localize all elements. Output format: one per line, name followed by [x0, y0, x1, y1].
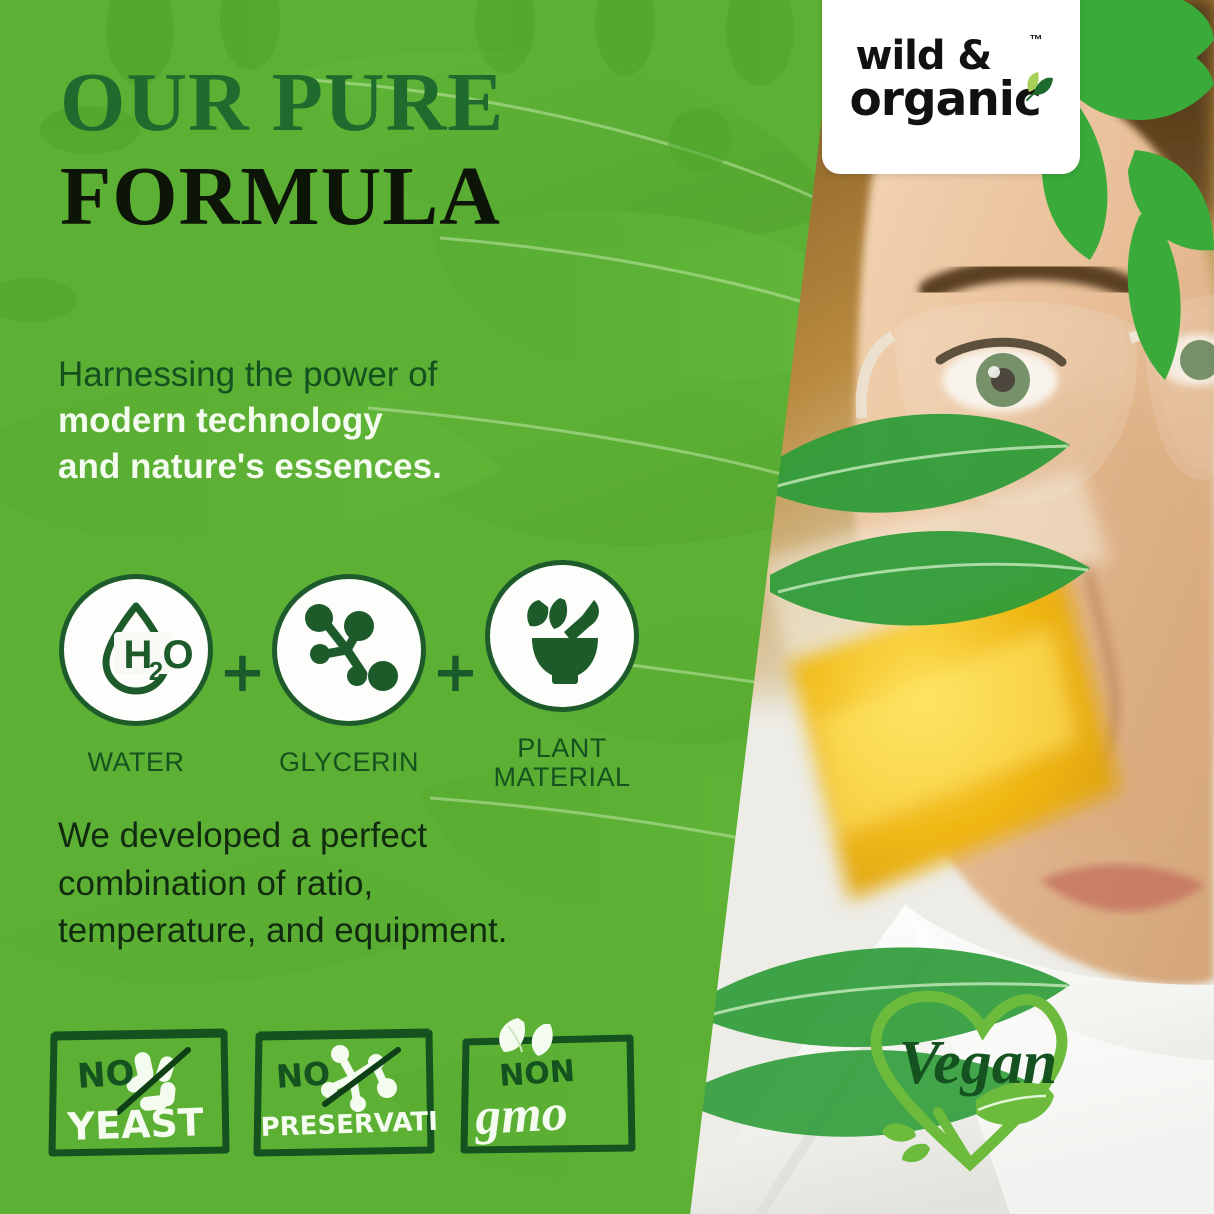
trademark-symbol: ™ [1030, 32, 1043, 47]
plus-sign-2: + [429, 645, 482, 701]
ingredient-circle [485, 560, 639, 712]
ingredient-label: WATER [88, 748, 185, 777]
headline-line-2: FORMULA [60, 156, 700, 238]
svg-text:O: O [162, 633, 192, 677]
logo-line-1: wild & [856, 36, 992, 76]
ingredient-label-line-2: MATERIAL [493, 762, 630, 792]
badge-non-gmo: NON gmo [458, 1026, 641, 1158]
svg-text:gmo: gmo [473, 1084, 569, 1146]
brand-logo-card[interactable]: wild & organic ™ [822, 0, 1080, 174]
subheadline-line-1: Harnessing the power of [58, 352, 678, 398]
body-paragraph: We developed a perfect combination of ra… [58, 812, 658, 955]
logo-leaf-icon [1007, 70, 1055, 110]
paragraph-line-2: combination of ratio, [58, 860, 658, 908]
ingredient-glycerin: GLYCERIN [269, 574, 429, 777]
vegan-label: Vegan [899, 1029, 1057, 1097]
svg-text:NO: NO [76, 1053, 136, 1097]
paragraph-line-3: temperature, and equipment. [58, 907, 658, 955]
vegan-heart-logo: Vegan [848, 978, 1118, 1188]
ingredient-label-line-1: PLANT [517, 733, 607, 763]
promo-banner: OUR PURE FORMULA Harnessing the power of… [0, 0, 1214, 1214]
svg-text:NO: NO [275, 1054, 332, 1096]
badge-no-preservatives: NO PRESERVATIVES [253, 1026, 436, 1158]
headline: OUR PURE FORMULA [60, 62, 700, 239]
ingredient-water: H 2 O WATER [56, 574, 216, 777]
paragraph-line-1: We developed a perfect [58, 812, 658, 860]
ingredient-circle [272, 574, 426, 726]
glycerin-molecule-icon [295, 596, 403, 704]
preservatives-crossed-out-icon: NO PRESERVATIVES [253, 1026, 436, 1158]
ingredient-label: GLYCERIN [279, 748, 419, 777]
plus-sign-1: + [216, 645, 269, 701]
ingredient-plant-material: PLANT MATERIAL [482, 560, 642, 791]
subheadline-line-2: modern technology [58, 398, 678, 444]
svg-text:PRESERVATIVES: PRESERVATIVES [260, 1105, 436, 1143]
leaf-sprout-icon: NON gmo [458, 1016, 641, 1156]
ingredient-label: PLANT MATERIAL [493, 734, 630, 791]
vegan-badge: Vegan [848, 978, 1118, 1188]
badge-no-yeast: NO YEAST [48, 1026, 231, 1158]
svg-text:2: 2 [149, 656, 163, 686]
claim-badges: NO YEAST [48, 1026, 648, 1158]
subheadline: Harnessing the power of modern technolog… [58, 352, 678, 491]
headline-line-1: OUR PURE [60, 62, 700, 144]
water-droplet-h2o-icon: H 2 O [80, 594, 192, 706]
svg-text:YEAST: YEAST [66, 1100, 205, 1149]
brand-logo: wild & organic ™ [844, 36, 1059, 146]
ingredients-row: H 2 O WATER + [56, 560, 686, 791]
ingredient-circle: H 2 O [59, 574, 213, 726]
yeast-crossed-out-icon: NO YEAST [48, 1026, 231, 1158]
mortar-pestle-icon [508, 582, 616, 690]
subheadline-line-3: and nature's essences. [58, 444, 678, 490]
